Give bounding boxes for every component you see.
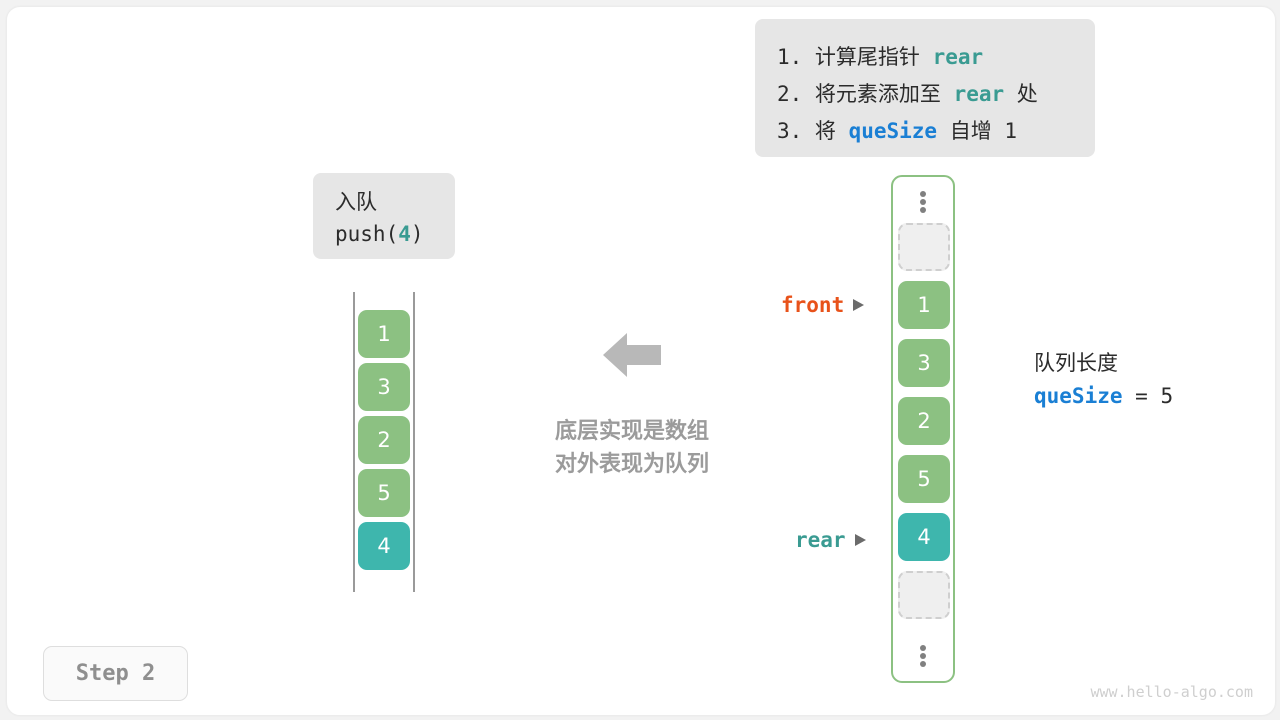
queue-cell: 2 [358, 416, 410, 464]
queue-rail-right [413, 292, 415, 592]
operation-call-prefix: push( [335, 222, 398, 246]
queue-cell: 1 [358, 310, 410, 358]
array-slot-filled: 5 [898, 455, 950, 503]
transform-caption: 底层实现是数组 对外表现为队列 [517, 415, 747, 481]
size-annotation-label: 队列长度 [1034, 347, 1173, 379]
figure-card: 1. 计算尾指针 rear 2. 将元素添加至 rear 处 3. 将 queS… [6, 6, 1276, 716]
instruction-line-2-keyword: rear [954, 82, 1005, 106]
operation-title: 入队 [335, 187, 455, 218]
transform-caption-line-2: 对外表现为队列 [517, 448, 747, 481]
size-annotation-equals: = [1123, 384, 1161, 408]
size-annotation-value: queSize = 5 [1034, 379, 1173, 413]
array-slot-list: 13254 [898, 223, 950, 629]
front-pointer-label: front [781, 293, 844, 317]
array-slot-filled: 2 [898, 397, 950, 445]
size-annotation-variable: queSize [1034, 384, 1123, 408]
vertical-ellipsis-icon-top [893, 187, 953, 217]
instruction-line-3: 3. 将 queSize 自增 1 [777, 113, 1073, 150]
instruction-line-3-suffix: 自增 1 [937, 119, 1017, 143]
queue-cell: 3 [358, 363, 410, 411]
instruction-line-1-prefix: 1. 计算尾指针 [777, 45, 933, 69]
vertical-ellipsis-icon-bottom [893, 641, 953, 671]
instruction-line-2-suffix: 处 [1004, 82, 1038, 106]
queue-rail-left [353, 292, 355, 592]
step-badge: Step 2 [43, 646, 188, 701]
operation-call-suffix: ) [411, 222, 424, 246]
operation-call: push(4) [335, 218, 455, 250]
instruction-line-3-keyword: queSize [849, 119, 938, 143]
instruction-line-2-prefix: 2. 将元素添加至 [777, 82, 954, 106]
instruction-box: 1. 计算尾指针 rear 2. 将元素添加至 rear 处 3. 将 queS… [755, 19, 1095, 157]
queue-cell: 4 [358, 522, 410, 570]
size-annotation-number: 5 [1160, 384, 1173, 408]
rear-pointer: rear [795, 528, 866, 552]
front-pointer-arrow-icon [853, 299, 864, 311]
watermark: www.hello-algo.com [1090, 683, 1253, 701]
array-slot-empty [898, 223, 950, 271]
queue-cell: 5 [358, 469, 410, 517]
rear-pointer-arrow-icon [855, 534, 866, 546]
rear-pointer-label: rear [795, 528, 846, 552]
operation-call-arg: 4 [398, 222, 411, 246]
array-slot-empty [898, 571, 950, 619]
operation-box: 入队 push(4) [313, 173, 455, 259]
left-arrow-icon [601, 329, 663, 381]
instruction-line-1-keyword: rear [933, 45, 984, 69]
array-slot-filled: 4 [898, 513, 950, 561]
transform-caption-line-1: 底层实现是数组 [517, 415, 747, 448]
array-view: 13254 [891, 175, 955, 683]
instruction-line-3-prefix: 3. 将 [777, 119, 849, 143]
instruction-line-1: 1. 计算尾指针 rear [777, 39, 1073, 76]
queue-cell-list: 13254 [358, 310, 410, 575]
queue-view: 13254 [353, 292, 415, 592]
size-annotation: 队列长度 queSize = 5 [1034, 347, 1173, 413]
instruction-line-2: 2. 将元素添加至 rear 处 [777, 76, 1073, 113]
array-slot-filled: 1 [898, 281, 950, 329]
array-slot-filled: 3 [898, 339, 950, 387]
front-pointer: front [781, 293, 864, 317]
